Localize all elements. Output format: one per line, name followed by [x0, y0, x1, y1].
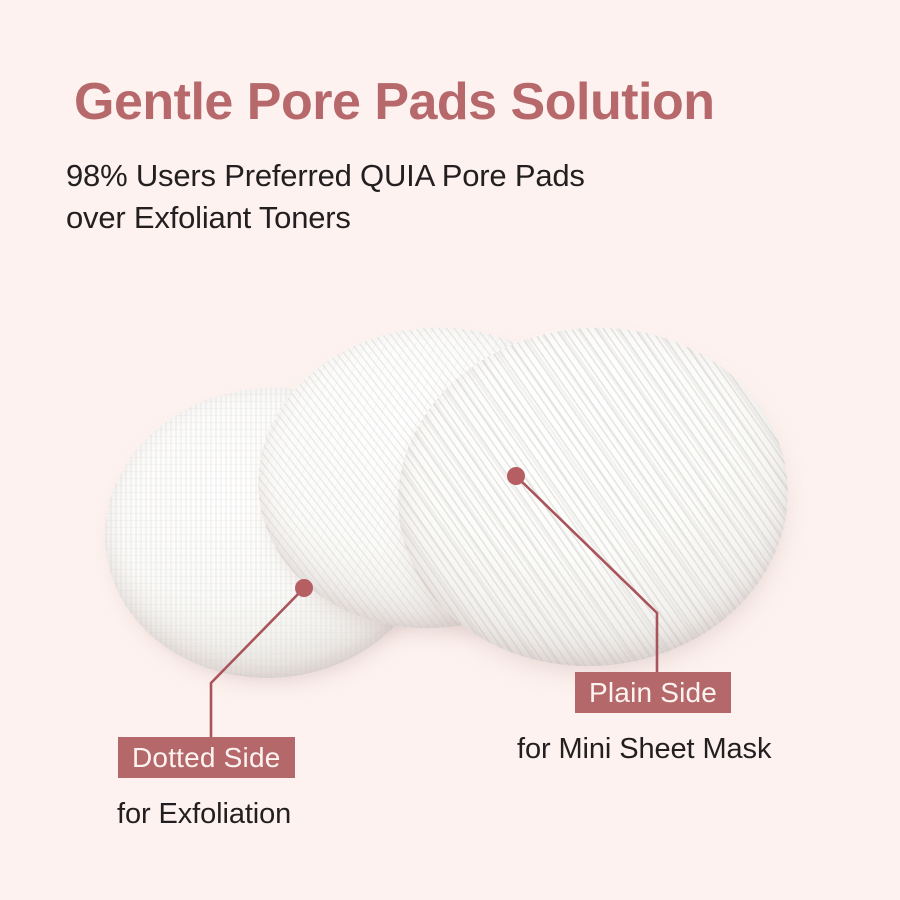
page-subtitle-line-1: 98% Users Preferred QUIA Pore Pads [66, 155, 766, 197]
callout-badge-dotted-side: Dotted Side [118, 737, 295, 778]
page-title: Gentle Pore Pads Solution [74, 75, 854, 130]
callout-caption-plain-side: for Mini Sheet Mask [517, 733, 771, 766]
product-photo [0, 250, 900, 680]
callout-badge-plain-side: Plain Side [575, 672, 731, 713]
product-infographic: Gentle Pore Pads Solution 98% Users Pref… [0, 0, 900, 900]
page-subtitle: 98% Users Preferred QUIA Pore Pads over … [66, 155, 766, 239]
page-subtitle-line-2: over Exfoliant Toners [66, 197, 766, 239]
callout-caption-dotted-side: for Exfoliation [117, 798, 291, 831]
